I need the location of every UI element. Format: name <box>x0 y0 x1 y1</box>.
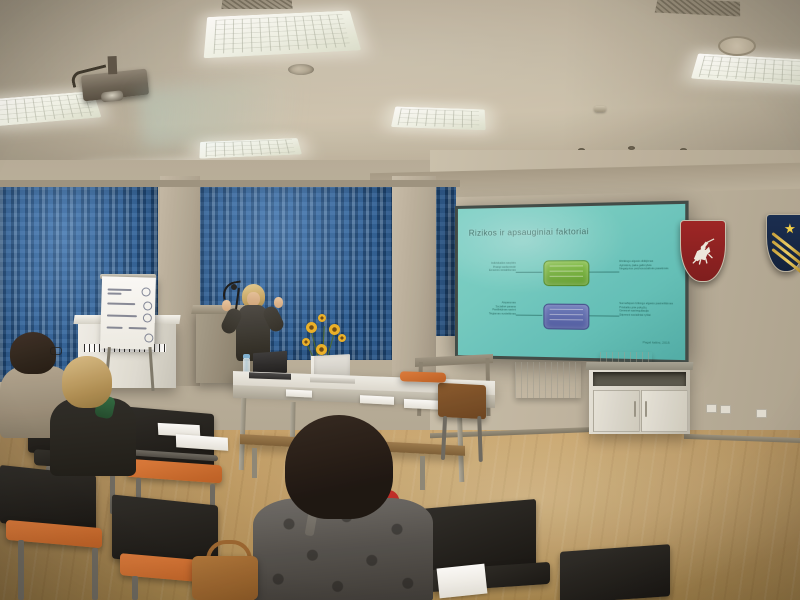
storage-cabinet[interactable] <box>589 368 690 434</box>
attendee-torso <box>50 398 136 476</box>
sunflower <box>316 344 327 355</box>
wall-outlet[interactable] <box>756 409 767 418</box>
cabinet-door-left[interactable] <box>593 390 640 432</box>
presenter-right-hand <box>274 297 283 308</box>
institutional-coat-of-arms <box>766 214 800 272</box>
flipchart-number-1-icon <box>141 287 150 296</box>
sunflower <box>338 334 346 342</box>
window-right-sliver <box>434 186 456 336</box>
ceiling-light-panel <box>204 11 361 59</box>
paper-sheet[interactable] <box>437 564 488 599</box>
slide-surface: Rizikos ir apsauginiai faktoriai Individ… <box>458 204 685 360</box>
sunflower <box>318 314 326 322</box>
presenter-left-hand <box>222 300 231 311</box>
window-header-trim <box>0 180 460 187</box>
ceiling-vent <box>221 0 292 9</box>
projection-screen: Rizikos ir apsauginiai faktoriai Individ… <box>455 201 689 364</box>
cabinet-open-shelf <box>593 372 686 386</box>
wall-outlet[interactable] <box>706 404 717 413</box>
sunflower <box>302 338 310 346</box>
conference-room-photo: Rizikos ir apsauginiai faktoriai Individ… <box>0 0 800 600</box>
flipchart-sheet[interactable] <box>100 276 156 349</box>
paper-sheet[interactable] <box>360 395 394 405</box>
paper-sheet[interactable] <box>286 389 312 397</box>
projector-mount <box>108 56 118 74</box>
cabinet-top <box>586 362 694 370</box>
ceiling-light-panel <box>391 107 486 131</box>
handbag[interactable] <box>192 556 258 600</box>
radiator <box>515 362 581 398</box>
wall-outlet[interactable] <box>720 405 731 414</box>
cabinet-door-right[interactable] <box>641 390 688 432</box>
microphone-icon <box>231 284 237 290</box>
eyeglasses-icon <box>50 347 62 355</box>
sunflower <box>329 324 340 335</box>
wall-column <box>392 176 436 376</box>
sunflower <box>306 322 317 333</box>
smoke-detector-icon <box>594 106 606 112</box>
lithuanian-coat-of-arms <box>680 220 726 282</box>
cabinet-handle-icon[interactable] <box>645 401 647 417</box>
flipchart-number-2-icon <box>143 301 152 310</box>
flipchart-number-3-icon <box>143 313 152 322</box>
flipchart-number-4-icon <box>144 333 153 342</box>
ceiling-speaker <box>288 64 314 75</box>
attendee-hair <box>285 415 393 519</box>
ceiling-fixture-ring <box>718 36 756 56</box>
screen-glare <box>458 204 685 360</box>
attendee-hair <box>10 332 56 374</box>
cabinet-handle-icon[interactable] <box>634 401 636 417</box>
presenter-face <box>247 292 260 306</box>
attendee-hair <box>62 356 112 408</box>
vytis-knight-icon <box>687 231 718 272</box>
